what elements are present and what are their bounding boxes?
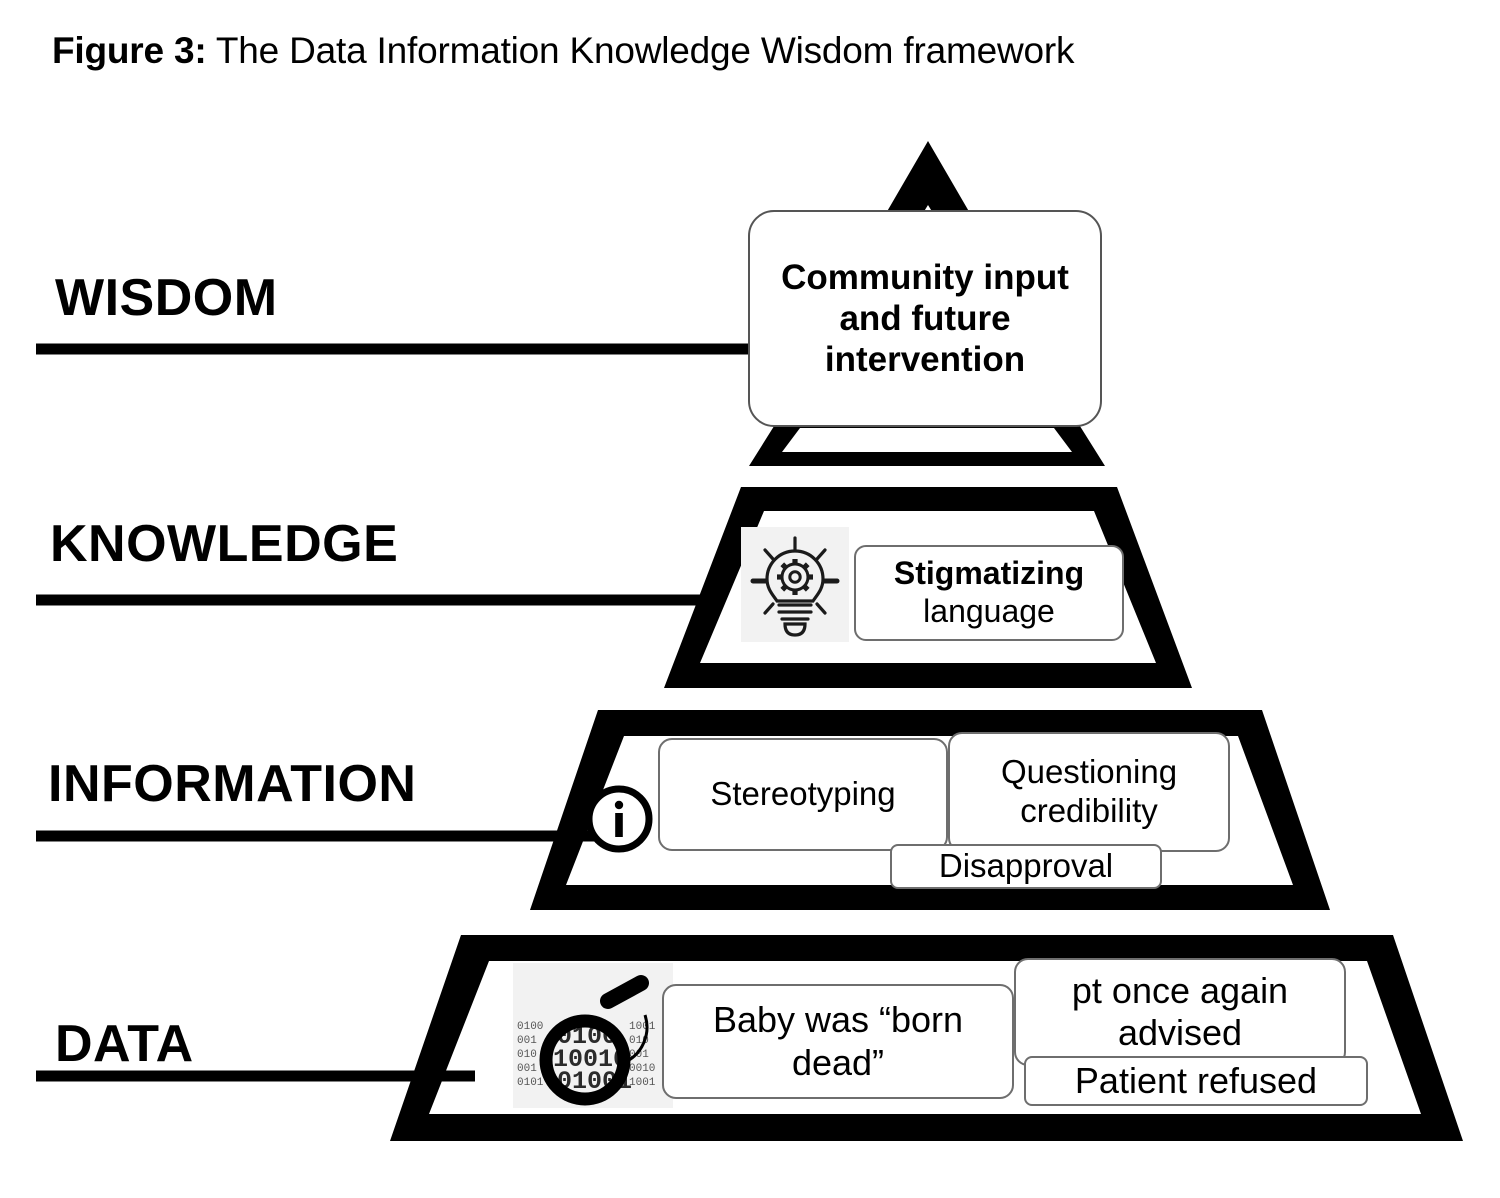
callout-pt-once-again-advised: pt once again advised	[1014, 958, 1346, 1066]
tier-label-data: DATA	[55, 1018, 194, 1070]
callout-born-dead-line2: dead”	[792, 1042, 884, 1084]
callout-stigmatizing-line2: language	[923, 593, 1055, 631]
tier-label-knowledge: KNOWLEDGE	[50, 518, 398, 570]
svg-text:001: 001	[517, 1035, 537, 1047]
callout-questioning-line2: credibility	[1020, 792, 1158, 831]
callout-stigmatizing-line1: Stigmatizing	[894, 555, 1084, 593]
tier-label-information: INFORMATION	[48, 758, 416, 810]
callout-pt-advised-line2: advised	[1118, 1012, 1242, 1054]
svg-text:1001: 1001	[629, 1021, 656, 1033]
callout-pt-advised-line1: pt once again	[1072, 970, 1288, 1012]
svg-text:0010: 0010	[629, 1063, 655, 1075]
callout-questioning-credibility: Questioning credibility	[948, 732, 1230, 852]
callout-born-dead: Baby was “born dead”	[662, 984, 1014, 1099]
callout-stigmatizing-language: Stigmatizing language	[854, 545, 1124, 641]
lightbulb-gear-icon	[741, 527, 849, 642]
callout-patient-refused: Patient refused	[1024, 1056, 1368, 1106]
svg-text:010: 010	[517, 1049, 537, 1061]
svg-text:0100: 0100	[517, 1021, 543, 1033]
tier-label-wisdom: WISDOM	[55, 272, 278, 324]
svg-text:1001: 1001	[629, 1077, 656, 1089]
callout-disapproval: Disapproval	[890, 844, 1162, 889]
callout-questioning-line1: Questioning	[1001, 753, 1177, 792]
dikw-pyramid-diagram: WISDOM KNOWLEDGE INFORMATION DATA Commun…	[0, 0, 1500, 1198]
svg-text:0101: 0101	[517, 1077, 544, 1089]
callout-community-input: Community input and future intervention	[748, 210, 1102, 427]
callout-born-dead-line1: Baby was “born	[713, 999, 963, 1041]
callout-stereotyping: Stereotyping	[658, 738, 948, 851]
info-circle-icon	[583, 783, 655, 855]
svg-text:001: 001	[517, 1063, 537, 1075]
magnifier-binary-icon: 0100 001 010 001 0101 1001 010 001 0010 …	[513, 963, 673, 1108]
